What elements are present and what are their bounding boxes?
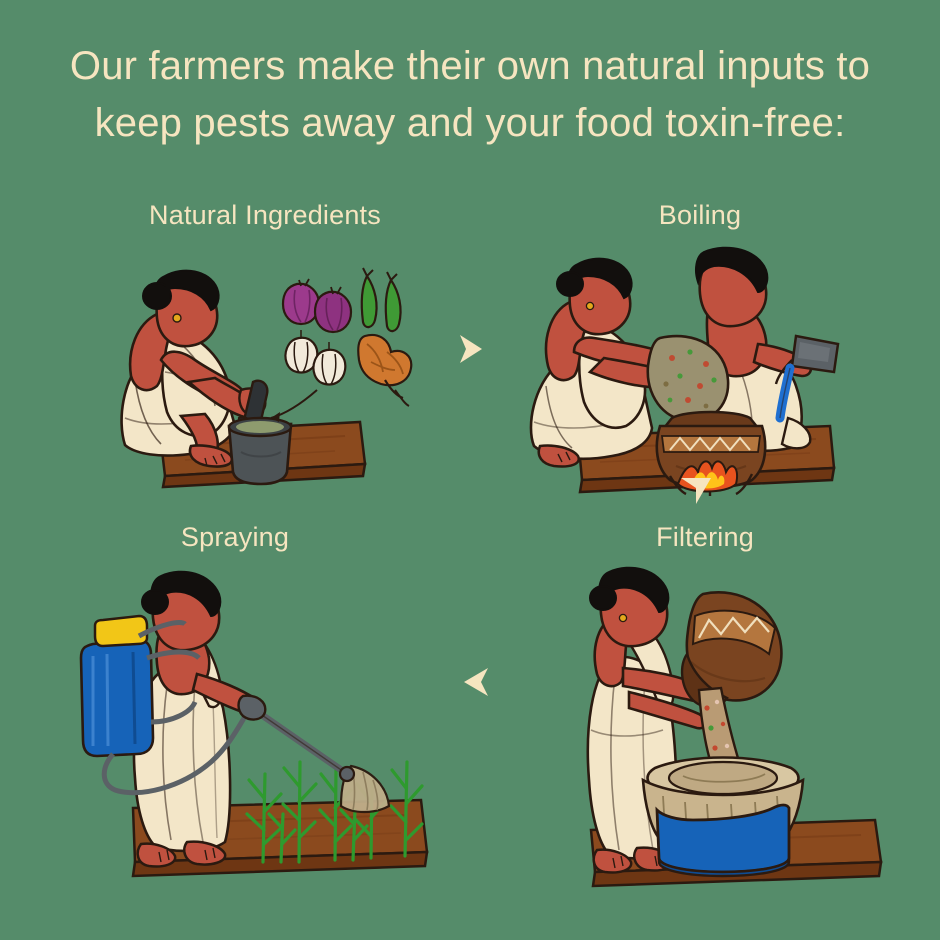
step-panel-filtering: Filtering: [505, 522, 905, 822]
earring-icon: [586, 302, 593, 309]
arrow-boiling-to-filtering: [670, 466, 722, 519]
garlic-icon: [313, 342, 345, 384]
earring-icon: [619, 614, 626, 621]
arrow-filtering-to-spraying: [450, 656, 502, 713]
chili-icon: [362, 268, 377, 327]
tank-cap-icon: [95, 616, 147, 646]
step-label-filtering: Filtering: [505, 522, 905, 553]
nozzle-icon: [340, 767, 354, 781]
illustration-natural-ingredients: [65, 240, 465, 505]
earring-icon: [173, 314, 181, 322]
step-label-natural-ingredients: Natural Ingredients: [65, 200, 465, 231]
clay-pot-icon: [682, 592, 781, 707]
onion-icon: [283, 279, 319, 324]
step-panel-spraying: Spraying: [35, 522, 435, 822]
onion-icon: [315, 287, 351, 332]
ginger-icon: [358, 335, 411, 406]
arrow-ingredients-to-boiling: [446, 326, 492, 377]
sprayer-trigger-icon: [239, 696, 266, 720]
page-title-line-2: keep pests away and your food toxin-free…: [0, 95, 940, 152]
chili-icon: [386, 272, 401, 331]
step-label-spraying: Spraying: [35, 522, 435, 553]
illustration-filtering: [505, 562, 905, 897]
page-title: Our farmers make their own natural input…: [0, 38, 940, 152]
page-title-line-1: Our farmers make their own natural input…: [0, 38, 940, 95]
illustration-spraying: [35, 562, 435, 897]
step-panel-natural-ingredients: Natural Ingredients: [65, 200, 465, 500]
infographic-poster: Our farmers make their own natural input…: [0, 0, 940, 940]
step-panel-boiling: Boiling: [500, 200, 900, 500]
ingredients-group: [271, 268, 411, 422]
step-label-boiling: Boiling: [500, 200, 900, 231]
